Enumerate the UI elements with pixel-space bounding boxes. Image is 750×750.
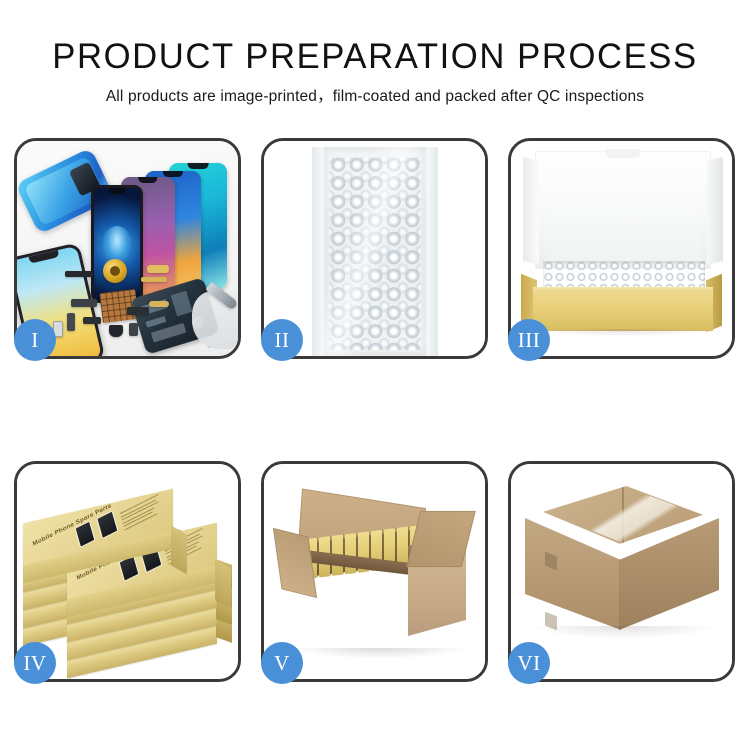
step-panel-iii: III (508, 138, 735, 359)
step-image-bubble-wrap (264, 141, 485, 356)
product-preparation-infographic: PRODUCT PREPARATION PROCESS All products… (0, 0, 750, 750)
inner-box-front (533, 291, 713, 331)
step-panel-vi: VI (508, 461, 735, 682)
phone-screen-jellyfish (91, 185, 143, 303)
step-badge-v: V (261, 642, 303, 684)
step-image-stacked-boxes: Mobile Phone Spare Parts (17, 464, 238, 679)
page-title: PRODUCT PREPARATION PROCESS (4, 36, 747, 78)
open-shipping-carton (282, 490, 474, 658)
speaker-coil-part (103, 259, 127, 283)
gold-flex-part-1 (147, 265, 169, 273)
step-image-inner-box (511, 141, 732, 356)
gold-flex-part-3 (149, 301, 169, 307)
retail-box-stack: Mobile Phone Spare Parts (23, 482, 235, 672)
step-panel-v: V (261, 461, 488, 682)
step-panel-iv: Mobile Phone Spare Parts (14, 461, 241, 682)
inner-box-shadow (537, 329, 709, 337)
speaker-module-part (109, 325, 123, 337)
step-image-sealed-carton (511, 464, 732, 679)
inner-box-foam (545, 199, 701, 263)
gold-flex-part-2 (141, 277, 167, 282)
step-badge-vi: VI (508, 642, 550, 684)
flex-cable-part-4 (127, 307, 149, 315)
carton-shadow (296, 648, 464, 658)
flex-cable-part-3 (83, 317, 101, 324)
flex-cable-part-1 (65, 271, 93, 277)
step-badge-iii: III (508, 319, 550, 361)
step-image-phone-parts (17, 141, 238, 356)
step-panel-i: I (14, 138, 241, 359)
step-image-carton-loading (264, 464, 485, 679)
process-steps-grid: I II (14, 138, 736, 684)
battery-connector-part (67, 313, 75, 331)
camera-module-part (129, 323, 138, 336)
page-subtitle: All products are image-printed，film-coat… (0, 87, 750, 107)
sealed-shipping-carton (525, 486, 721, 662)
sealed-carton-shadow (533, 626, 713, 638)
bubble-wrap-sheet (323, 147, 427, 356)
carton-front (298, 564, 410, 652)
header: PRODUCT PREPARATION PROCESS All products… (0, 0, 750, 107)
step-badge-iv: IV (14, 642, 56, 684)
flex-cable-part-2 (71, 299, 97, 307)
inner-box-lid-tab (606, 149, 640, 158)
bubble-wrap-sheen (323, 147, 427, 356)
step-badge-i: I (14, 319, 56, 361)
step-panel-ii: II (261, 138, 488, 359)
step-badge-ii: II (261, 319, 303, 361)
